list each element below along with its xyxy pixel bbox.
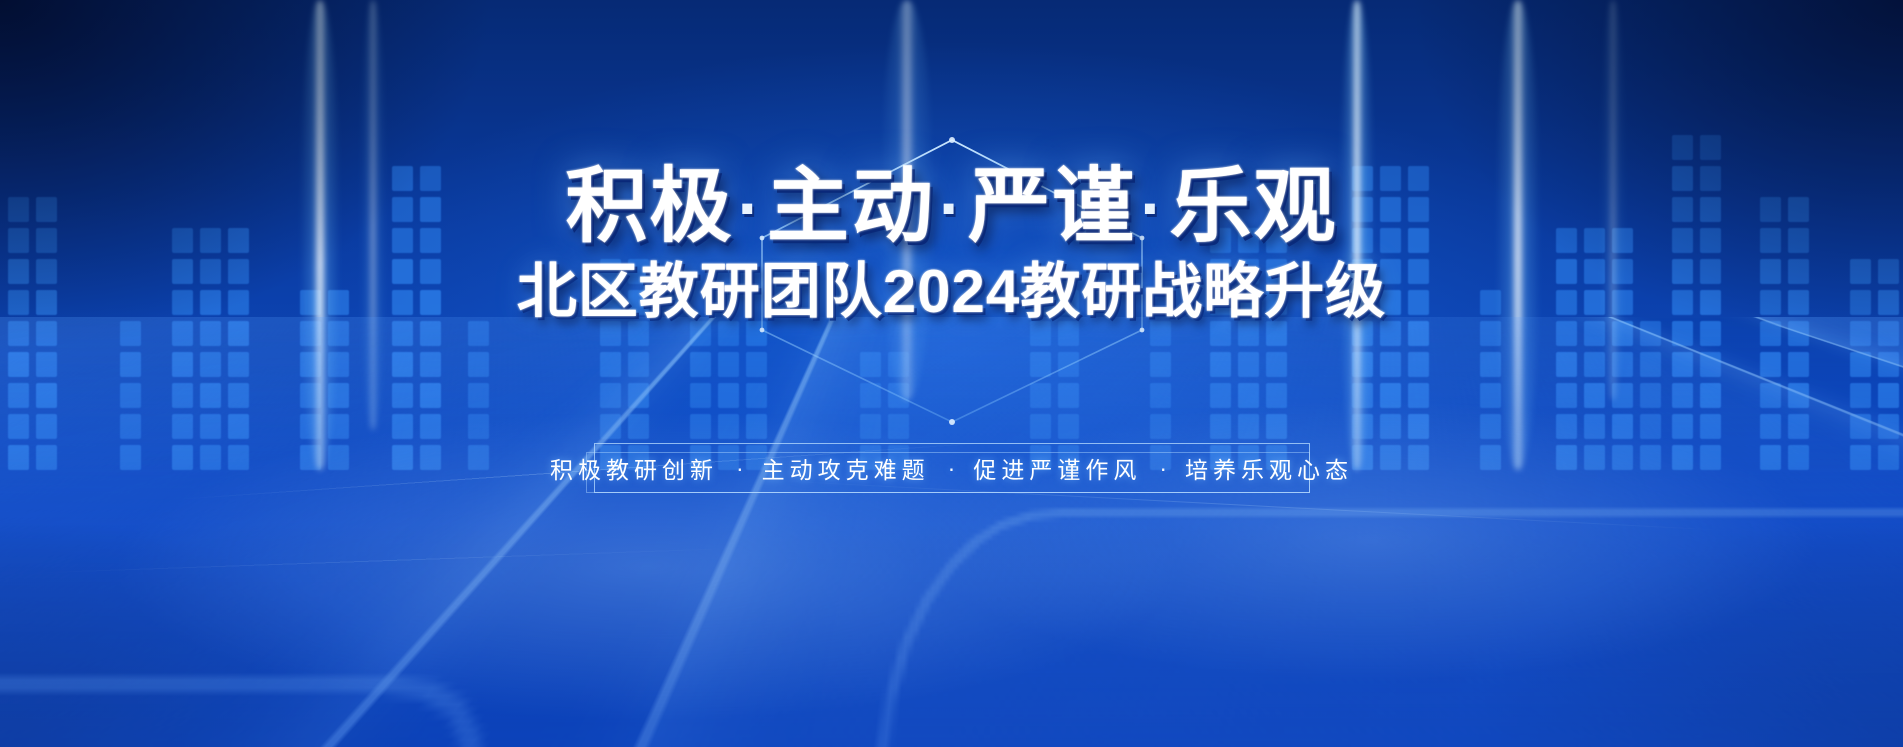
title-word: 乐观 [1169, 161, 1337, 252]
tagline-item: 积极教研创新 [550, 451, 718, 485]
title-word: 主动 [767, 161, 935, 252]
banner-canvas: 积极·主动·严谨·乐观 北区教研团队2024教研战略升级 积极教研创新·主动攻克… [0, 0, 1903, 747]
tagline-separator-dot: · [1159, 455, 1167, 482]
page-title: 积极·主动·严谨·乐观 [0, 166, 1903, 248]
tagline-item: 促进严谨作风 [973, 451, 1141, 485]
page-subtitle: 北区教研团队2024教研战略升级 [0, 262, 1903, 322]
tagline-separator-dot: · [736, 455, 744, 482]
tagline-item: 主动攻克难题 [762, 451, 930, 485]
title-separator-dot: · [734, 169, 767, 247]
title-separator-dot: · [1136, 169, 1169, 247]
title-word: 严谨 [968, 161, 1136, 252]
title-word: 积极 [566, 161, 734, 252]
tagline-text: 积极教研创新·主动攻克难题·促进严谨作风·培养乐观心态 [594, 443, 1310, 493]
tagline-item: 培养乐观心态 [1185, 451, 1353, 485]
title-separator-dot: · [935, 169, 968, 247]
banner-text-block: 积极·主动·严谨·乐观 北区教研团队2024教研战略升级 [0, 0, 1903, 322]
tagline-bar: 积极教研创新·主动攻克难题·促进严谨作风·培养乐观心态 [594, 443, 1310, 493]
tagline-separator-dot: · [948, 455, 956, 482]
perspective-floor [0, 317, 1903, 747]
